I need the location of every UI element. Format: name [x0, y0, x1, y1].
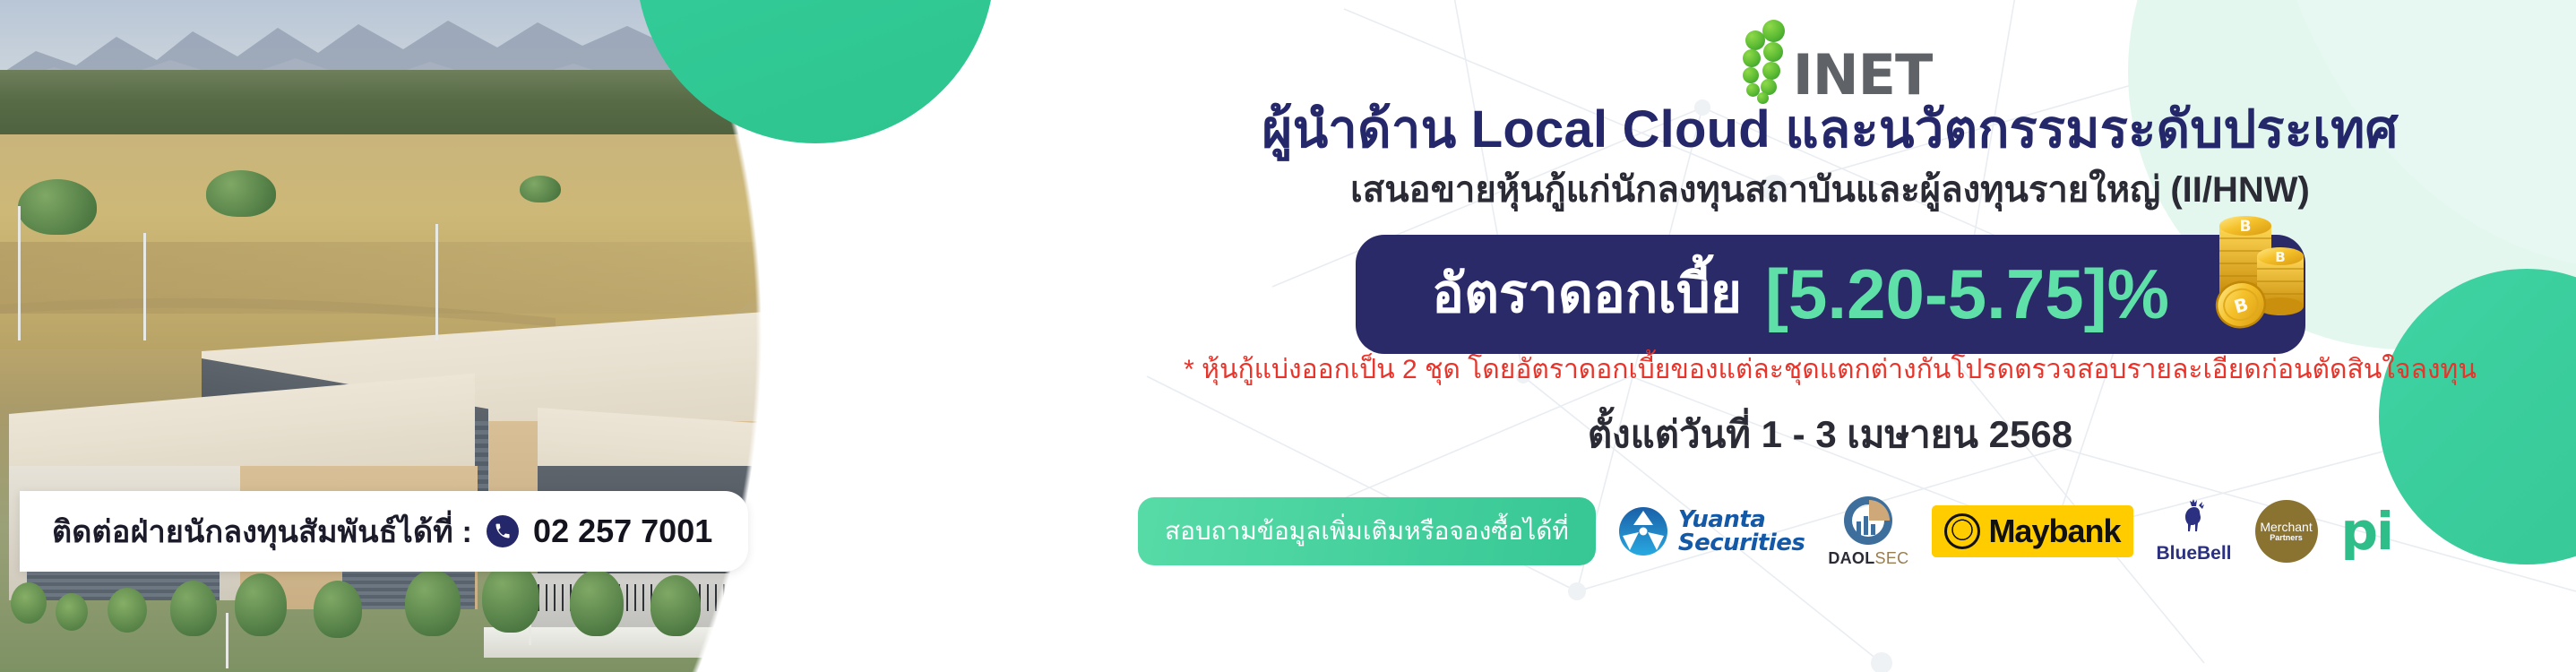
rate-disclaimer: * หุ้นกู้แบ่งออกเป็น 2 ชุด โดยอัตราดอกเบ…	[1084, 353, 2576, 387]
bluebell-deer-icon	[2175, 499, 2214, 541]
daol-circle-icon	[1842, 495, 1894, 547]
partner-logo-pi-securities[interactable]: pi	[2341, 493, 2392, 570]
maybank-tiger-icon	[1944, 513, 1980, 549]
inet-green-dots-logo-icon	[1728, 20, 1788, 100]
inquire-or-subscribe-button[interactable]: สอบถามข้อมูลเพิ่มเติมหรือจองซื้อได้ที่	[1138, 497, 1596, 565]
offer-date-range: ตั้งแต่วันที่ 1 - 3 เมษายน 2568	[1084, 405, 2576, 464]
interest-rate-box: อัตราดอกเบี้ย [5.20-5.75]%	[1356, 235, 2305, 354]
merchant-line1: Merchant	[2260, 521, 2312, 534]
partner-logo-yuanta-securities[interactable]: Yuanta Securities	[1617, 493, 1805, 570]
contact-phone-number[interactable]: 02 257 7001	[533, 513, 712, 550]
interest-rate-section: อัตราดอกเบี้ย [5.20-5.75]%	[1084, 235, 2576, 354]
partner-logo-maybank[interactable]: Maybank	[1932, 493, 2132, 570]
yuanta-line2: Securities	[1678, 530, 1805, 556]
promotional-banner: ติดต่อฝ่ายนักลงทุนสัมพันธ์ได้ที่ : 02 25…	[0, 0, 2576, 672]
daol-line2: SEC	[1875, 549, 1909, 567]
partner-logo-merchant-partners[interactable]: Merchant Partners	[2255, 493, 2318, 570]
bluebell-wordmark: BlueBell	[2157, 543, 2232, 564]
pi-wordmark-icon: pi	[2341, 511, 2392, 552]
yuanta-star-icon	[1617, 505, 1669, 557]
inet-wordmark: INET	[1793, 50, 1933, 100]
partner-logo-daol-sec[interactable]: DAOLSEC	[1828, 493, 1908, 570]
contact-label: ติดต่อฝ่ายนักลงทุนสัมพันธ์ได้ที่ :	[52, 507, 472, 556]
maybank-wordmark: Maybank	[1988, 513, 2120, 550]
gold-coin-stack-icon: B B	[2187, 204, 2322, 339]
svg-text:B: B	[2239, 218, 2251, 236]
partner-logo-bluebell[interactable]: BlueBell	[2157, 493, 2232, 570]
svg-text:B: B	[2275, 249, 2285, 265]
banner-content: INET ผู้นำด้าน Local Cloud และนวัตกรรมระ…	[1084, 0, 2576, 672]
cta-and-partners-row: สอบถามข้อมูลเพิ่มเติมหรือจองซื้อได้ที่	[1084, 493, 2576, 570]
interest-rate-value: [5.20-5.75]%	[1765, 259, 2169, 329]
partner-logo-list: Yuanta Securities	[1617, 493, 2392, 570]
investor-relations-contact: ติดต่อฝ่ายนักลงทุนสัมพันธ์ได้ที่ : 02 25…	[20, 491, 748, 572]
interest-rate-label: อัตราดอกเบี้ย	[1432, 251, 1742, 336]
merchant-line2: Partners	[2270, 534, 2303, 542]
daol-line1: DAOL	[1828, 549, 1874, 567]
page-title: ผู้นำด้าน Local Cloud และนวัตกรรมระดับปร…	[1084, 100, 2576, 160]
inet-logo: INET	[1084, 20, 2576, 100]
merchant-circle-icon: Merchant Partners	[2255, 500, 2318, 563]
page-subtitle: เสนอขายหุ้นกู้แก่นักลงทุนสถาบันและผู้ลงท…	[1084, 168, 2576, 211]
phone-handset-icon	[487, 515, 519, 547]
